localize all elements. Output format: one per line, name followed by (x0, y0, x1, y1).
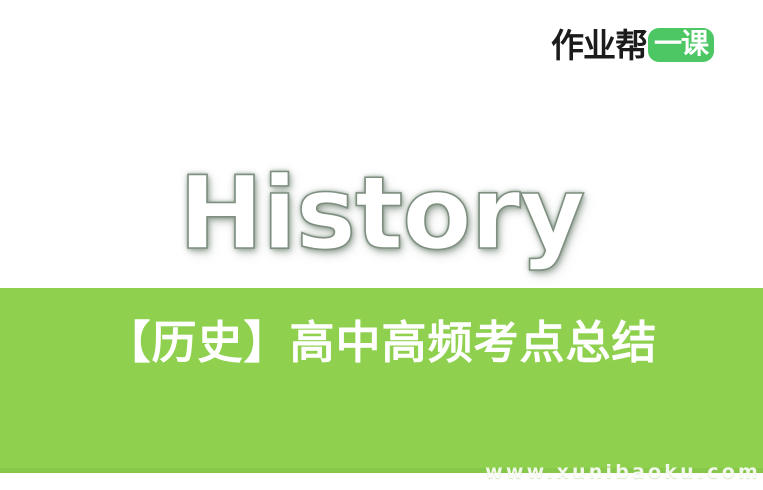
slide-canvas: 作业帮 一课 History 【历史】高中高频考点总结 www.xunibaok… (0, 0, 763, 490)
green-banner: 【历史】高中高频考点总结 (0, 288, 763, 473)
brand-badge: 一课 (648, 28, 714, 62)
hero-title: History (179, 160, 585, 266)
brand-logo: 作业帮 一课 (551, 22, 714, 68)
brand-wordmark: 作业帮 (551, 29, 647, 62)
banner-title: 【历史】高中高频考点总结 (0, 317, 763, 369)
watermark-text: www.xunibaoku.com (485, 461, 761, 483)
brand-badge-label: 一课 (654, 30, 708, 58)
hero-title-container: History (0, 160, 763, 266)
